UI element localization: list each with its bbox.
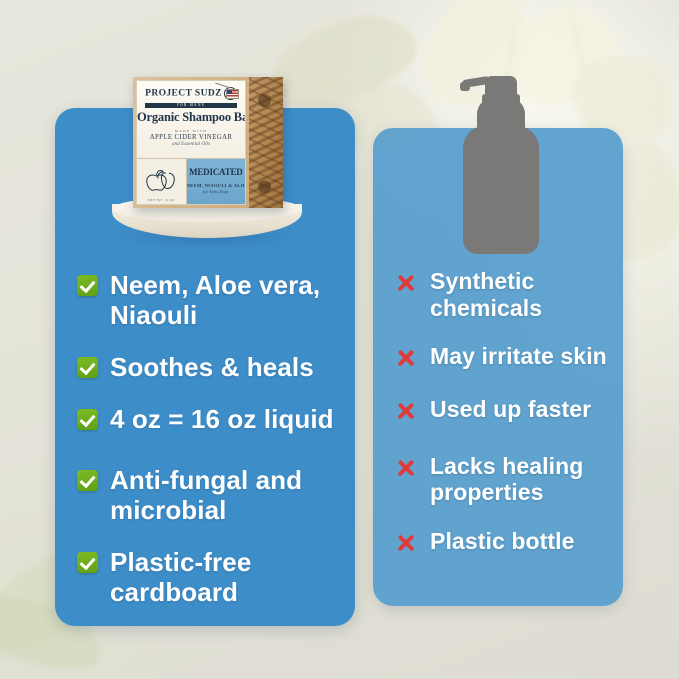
list-item-label: Used up faster xyxy=(430,396,591,423)
box-active-ingredients: NEEM, NIAOULI & ALOE xyxy=(187,183,245,188)
list-item: Neem, Aloe vera, Niaouli xyxy=(77,270,341,330)
box-banner: FOR MANE xyxy=(145,103,237,108)
comparison-infographic: PROJECT SUDZ5x FOR MANE Organic Shampoo … xyxy=(0,0,679,679)
box-net-weight: NET WT. 4 OZ xyxy=(137,198,186,202)
list-item-label: Plastic-free cardboard xyxy=(110,547,341,607)
box-label: PROJECT SUDZ5x FOR MANE Organic Shampoo … xyxy=(136,80,246,205)
list-item: 4 oz = 16 oz liquid xyxy=(77,404,341,434)
box-side-pattern xyxy=(246,77,283,208)
usa-flag-icon xyxy=(226,89,239,99)
cross-icon xyxy=(395,347,417,369)
list-item-label: Plastic bottle xyxy=(430,528,575,555)
list-item-label: 4 oz = 16 oz liquid xyxy=(110,404,334,434)
list-item: Plastic bottle xyxy=(395,528,609,555)
cons-list: Synthetic chemicals May irritate skin Us… xyxy=(373,268,623,555)
list-item: May irritate skin xyxy=(395,343,609,370)
plastic-pump-bottle-silhouette xyxy=(455,72,547,254)
cross-icon xyxy=(395,272,417,294)
list-item-label: Synthetic chemicals xyxy=(430,268,609,321)
cross-icon xyxy=(395,400,417,422)
brand-text: PROJECT SUDZ xyxy=(145,89,222,99)
list-item: Used up faster xyxy=(395,396,609,423)
list-item: Lacks healing properties xyxy=(395,453,609,506)
box-variant-name: MEDICATED xyxy=(187,167,245,177)
box-illustration-panel: NET WT. 4 OZ xyxy=(137,159,187,205)
box-label-upper: PROJECT SUDZ5x FOR MANE Organic Shampoo … xyxy=(137,81,245,159)
check-icon xyxy=(77,409,98,430)
box-active-subtitle: for Itchy Dogs xyxy=(187,189,245,194)
box-made-with-label: MADE WITH xyxy=(137,129,245,133)
check-icon xyxy=(77,275,98,296)
list-item: Plastic-free cardboard xyxy=(77,547,341,607)
list-item-label: Soothes & heals xyxy=(110,352,314,382)
box-scent-subtitle: and Essential Oils xyxy=(137,141,245,147)
list-item-label: Neem, Aloe vera, Niaouli xyxy=(110,270,341,330)
list-item-label: Lacks healing properties xyxy=(430,453,609,506)
bottle-body xyxy=(463,126,539,254)
box-label-lower: NET WT. 4 OZ MEDICATED NEEM, NIAOULI & A… xyxy=(137,159,245,205)
box-variant-panel: MEDICATED NEEM, NIAOULI & ALOE for Itchy… xyxy=(187,159,245,205)
list-item: Synthetic chemicals xyxy=(395,268,609,321)
check-icon xyxy=(77,357,98,378)
cross-icon xyxy=(395,532,417,554)
check-icon xyxy=(77,552,98,573)
box-front-face: PROJECT SUDZ5x FOR MANE Organic Shampoo … xyxy=(133,77,249,208)
check-icon xyxy=(77,470,98,491)
cross-icon xyxy=(395,457,417,479)
box-scent-name: APPLE CIDER VINEGAR xyxy=(137,134,245,141)
list-item: Anti-fungal and microbial xyxy=(77,465,341,525)
list-item-label: Anti-fungal and microbial xyxy=(110,465,341,525)
box-product-title: Organic Shampoo Bar xyxy=(137,110,245,125)
bottle-shoulder xyxy=(477,98,525,138)
apples-illustration-icon xyxy=(144,167,178,193)
pros-list: Neem, Aloe vera, Niaouli Soothes & heals… xyxy=(55,270,355,607)
list-item: Soothes & heals xyxy=(77,352,341,382)
product-package-box: PROJECT SUDZ5x FOR MANE Organic Shampoo … xyxy=(133,77,283,208)
list-item-label: May irritate skin xyxy=(430,343,607,370)
bottle-pump-nozzle xyxy=(460,82,470,91)
